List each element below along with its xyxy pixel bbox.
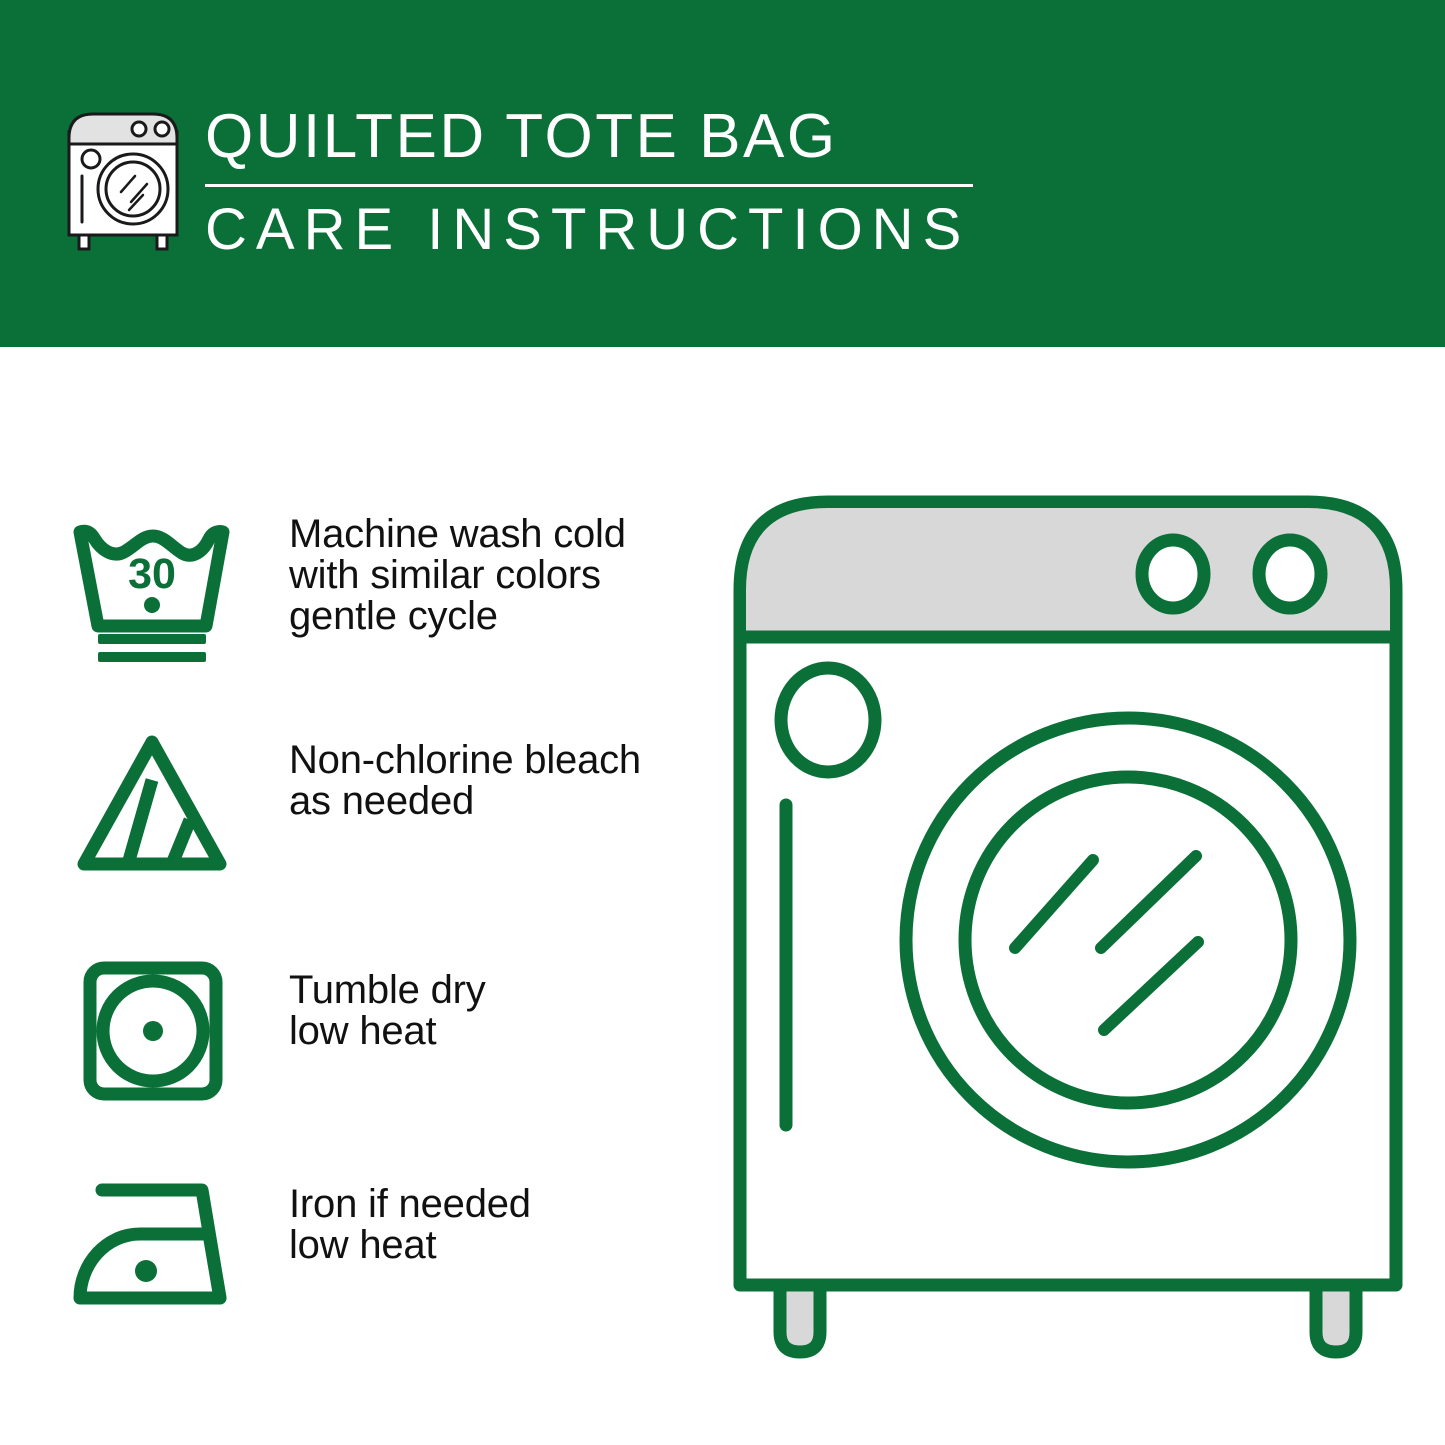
control-knob-left[interactable] <box>1142 540 1204 608</box>
machine-leg-right <box>1316 1285 1356 1352</box>
header-divider <box>205 184 973 187</box>
header-band: QUILTED TOTE BAG CARE INSTRUCTIONS <box>0 0 1445 347</box>
page-title: QUILTED TOTE BAG <box>205 98 995 176</box>
wash-temperature-label: 30 <box>128 550 176 598</box>
machine-leg-left <box>780 1285 820 1352</box>
care-item-bleach-text: Non-chlorine bleach as needed <box>289 740 689 822</box>
care-text-line: gentle cycle <box>289 596 689 637</box>
care-text-line: Tumble dry <box>289 970 689 1011</box>
care-item-tumble-dry: Tumble dry low heat <box>0 928 700 1128</box>
washing-machine-icon <box>63 104 183 254</box>
dispenser-dial[interactable] <box>781 668 875 772</box>
wash-symbol-wrapper: 30 <box>68 508 238 673</box>
page-subtitle: CARE INSTRUCTIONS <box>205 197 995 263</box>
iron-low-heat-icon <box>68 1170 238 1320</box>
care-item-machine-wash-text: Machine wash cold with similar colors ge… <box>289 514 689 637</box>
wash-tub-30-icon: 30 <box>68 516 238 666</box>
control-knob-right[interactable] <box>1259 540 1321 608</box>
bleach-symbol-wrapper <box>68 720 238 885</box>
care-item-machine-wash: 30 Machine wash cold with similar colors… <box>0 490 700 690</box>
care-item-tumble-dry-text: Tumble dry low heat <box>289 970 689 1052</box>
care-item-bleach: Non-chlorine bleach as needed <box>0 698 700 898</box>
care-text-line: low heat <box>289 1225 689 1266</box>
care-item-iron: Iron if needed low heat <box>0 1140 700 1340</box>
care-text-line: low heat <box>289 1011 689 1052</box>
care-item-iron-text: Iron if needed low heat <box>289 1184 689 1266</box>
care-text-line: Iron if needed <box>289 1184 689 1225</box>
tumble-dry-symbol-wrapper <box>68 948 238 1113</box>
care-text-line: with similar colors <box>289 555 689 596</box>
care-text-line: Non-chlorine bleach <box>289 740 689 781</box>
header-text-block: QUILTED TOTE BAG CARE INSTRUCTIONS <box>205 98 995 263</box>
large-washing-machine-illustration <box>718 470 1418 1370</box>
tumble-dry-low-icon <box>68 956 238 1106</box>
drum-inner-ring <box>965 777 1291 1103</box>
care-text-line: Machine wash cold <box>289 514 689 555</box>
iron-symbol-wrapper <box>68 1162 238 1327</box>
care-instructions-infographic: QUILTED TOTE BAG CARE INSTRUCTIONS 30 <box>0 0 1445 1445</box>
care-text-line: as needed <box>289 781 689 822</box>
non-chlorine-bleach-triangle-icon <box>68 728 238 878</box>
